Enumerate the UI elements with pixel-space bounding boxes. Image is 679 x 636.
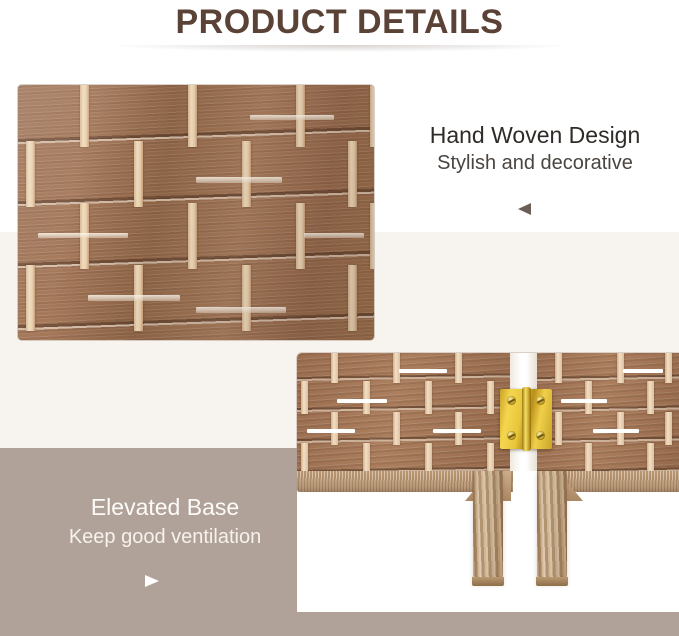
panel-left [297, 353, 510, 471]
arrow-right-icon [145, 575, 159, 587]
product-details-infographic: PRODUCT DETAILS [0, 0, 679, 636]
screen-panels [297, 353, 679, 471]
photo-woven-texture-closeup [18, 85, 374, 340]
photo-hinge-and-legs [297, 353, 679, 612]
header: PRODUCT DETAILS [0, 0, 679, 46]
feature-hand-woven-design: Hand Woven Design Stylish and decorative [404, 120, 666, 177]
panel-right [537, 353, 679, 471]
brass-hinge-icon [500, 389, 552, 449]
header-divider-shadow [30, 45, 650, 54]
feature-elevated-base: Elevated Base Keep good ventilation [20, 492, 310, 551]
feature-subheading: Stylish and decorative [404, 150, 666, 177]
hinge-knuckle [522, 387, 531, 451]
feature-heading: Elevated Base [20, 492, 310, 523]
arrow-left-icon [518, 203, 531, 215]
leg-right [537, 471, 567, 583]
weave-lighting-overlay [18, 85, 374, 340]
feature-heading: Hand Woven Design [404, 120, 666, 150]
feature-subheading: Keep good ventilation [20, 523, 310, 551]
elevated-legs [297, 471, 679, 612]
leg-left [473, 471, 503, 583]
page-title: PRODUCT DETAILS [0, 0, 679, 43]
